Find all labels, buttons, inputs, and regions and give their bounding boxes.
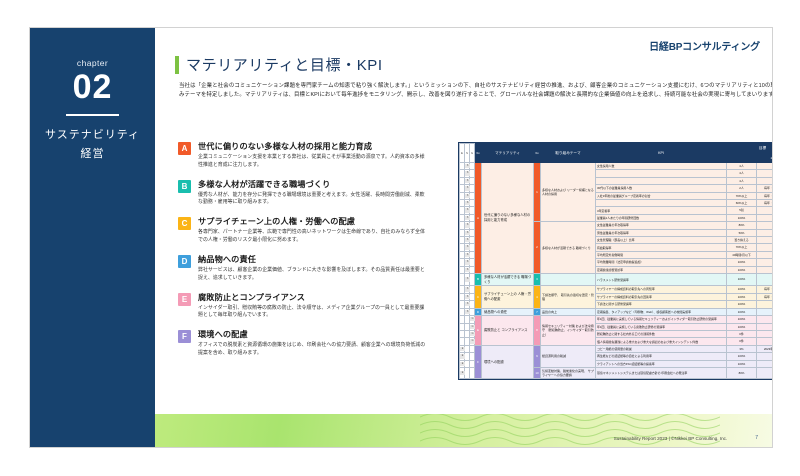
esg-cell-g	[470, 177, 475, 184]
materiality-item-d: D納品物への責任弊社サービスは、顧客企業の企業価値、ブランドに大きな影響を及ぼし…	[178, 254, 428, 282]
materiality-heading: サプライチェーン上の人権・労働への配慮	[198, 216, 428, 227]
esg-cell-g	[470, 293, 475, 300]
target-year-cell: 2023年	[757, 163, 773, 170]
target-value-cell: 80%	[727, 367, 757, 378]
col-header-no2: No	[534, 144, 541, 163]
theme-name-cell: 下請法順守、 取引先の適切な選定・管理	[541, 286, 596, 308]
target-value-cell: 置き換える	[727, 237, 757, 244]
esg-cell-g	[470, 207, 475, 214]
esg-cell-g	[470, 200, 475, 207]
esg-cell-g	[470, 360, 475, 367]
target-year-cell: 毎年（2025年まで）	[757, 192, 773, 199]
kpi-cell: 定期健康診断受診率	[596, 266, 727, 273]
materiality-badge-b: B	[178, 180, 191, 193]
materiality-badge-c: C	[178, 217, 191, 230]
kpi-cell: 下請法に関する研修受講率	[596, 301, 727, 308]
chapter-title-line2: 経営	[30, 145, 155, 164]
target-year-cell: 2024年	[757, 207, 773, 214]
table-row: SD納品物への責任7品質の向上定期編集、タイアップなど（印刷物、Web）、検収顧…	[460, 308, 773, 316]
materiality-heading: 環境への配慮	[198, 329, 428, 340]
kpi-cell: 個人情報紛失漏洩による重大および重大な訴訟のおよび重大インシデント件数	[596, 338, 727, 345]
title-accent-bar	[175, 56, 179, 74]
col-header-target-value	[727, 154, 757, 163]
table-row: SCサプライチェーン上の 人権・労働への配慮4下請法順守、 取引先の適切な選定・…	[460, 286, 773, 293]
kpi-cell: 再生紙などの認証紙等の自社による利用率	[596, 353, 727, 360]
kpi-cell: 平均残業時間（法定申請前提追加）	[596, 259, 727, 266]
materiality-badge-e: E	[178, 293, 191, 306]
esg-cell-g	[470, 185, 475, 192]
target-year-cell: 2024年	[757, 330, 773, 337]
target-year-cell: 毎年（2025年まで）	[757, 286, 773, 293]
materiality-item-a: A世代に偏りのない多様な人材の採用と能力育成企業コミュニケーション支援を本業とす…	[178, 141, 428, 169]
target-value-cell: 70%以上	[727, 192, 757, 199]
target-value-cell: 100%	[727, 301, 757, 308]
kpi-cell: 定期編集、タイアップなど（印刷物、Web）、検収顧客層への校閲実施率	[596, 308, 727, 316]
theme-no-cell: 10	[534, 367, 541, 378]
target-year-cell: 2022年	[757, 323, 773, 330]
materiality-description: 各専門家、パートナー企業等、広範で専門性の高いネットワークは生命線であり、自社の…	[198, 229, 428, 244]
kpi-cell: サプライヤーの構成資料の取引先への周知率	[596, 286, 727, 293]
kpi-table-body: SA世代に偏りのない多様な人材の採用と能力育成1多様な人材および リーダー候補と…	[460, 163, 773, 379]
target-value-cell: 100%	[727, 308, 757, 316]
target-value-cell: 50%	[727, 229, 757, 236]
target-year-cell: 2024年	[757, 170, 773, 177]
target-year-cell: 毎年	[757, 308, 773, 316]
materiality-item-c: Cサプライチェーン上の人権・労働への配慮各専門家、パートナー企業等、広範で専門性…	[178, 216, 428, 244]
theme-no-cell: 1	[534, 163, 541, 222]
esg-cell-g	[470, 237, 475, 244]
esg-cell-g	[470, 229, 475, 236]
esg-cell-g: G	[470, 330, 475, 337]
group-code-cell: F	[475, 345, 482, 379]
group-materiality-cell: 環境への配慮	[482, 345, 534, 379]
kpi-cell: 男性従業員の年次取得率	[596, 229, 727, 236]
materiality-heading: 納品物への責任	[198, 254, 428, 265]
target-year-cell: 2025年	[757, 244, 773, 251]
group-code-cell: B	[475, 274, 482, 286]
theme-name-cell: 品質の向上	[541, 308, 596, 316]
kpi-cell: 入社3年後の従業員グループ定着率の割合	[596, 192, 727, 199]
group-materiality-cell: 納品物への責任	[482, 308, 534, 316]
target-year-cell: 毎年	[757, 259, 773, 266]
table-row: SA世代に偏りのない多様な人材の採用と能力育成1多様な人材および リーダー候補と…	[460, 163, 773, 170]
col-header-kpi: KPI	[596, 144, 727, 163]
kpi-cell	[596, 170, 727, 177]
esg-cell-g	[470, 353, 475, 360]
materiality-badge-d: D	[178, 255, 191, 268]
target-value-cell: 100%	[727, 214, 757, 221]
table-row: EF環境への配慮9紙資源利用の削減コピー用紙の使用量の削減3%2023年（202…	[460, 345, 773, 352]
target-year-cell: 2025年	[757, 177, 773, 184]
esg-cell-g	[470, 222, 475, 229]
target-value-cell: 100%	[727, 274, 757, 286]
theme-no-cell: 2	[534, 222, 541, 274]
target-value-cell: 100%	[727, 353, 757, 360]
col-header-no1: No	[475, 144, 482, 163]
target-value-cell: 70%以上	[727, 244, 757, 251]
group-materiality-cell: サプライチェーン上の 人権・労働への配慮	[482, 286, 534, 308]
target-value-cell: 40時間/月以下	[727, 251, 757, 258]
theme-name-cell: 紙資源利用の削減	[541, 345, 596, 367]
group-code-cell: C	[475, 286, 482, 308]
slide-canvas: chapter 02 サステナビリティ 経営 日経BPコンサルティング マテリア…	[30, 28, 772, 447]
kpi-cell: 有給取得率	[596, 244, 727, 251]
target-value-cell: 60%以上	[727, 200, 757, 207]
esg-cell-g: G	[470, 323, 475, 330]
target-value-cell: 0件	[727, 338, 757, 345]
kpi-cell: 従業員1人あたりの年間研修回数	[596, 214, 727, 221]
materiality-heading: 世代に偏りのない多様な人材の採用と能力育成	[198, 141, 428, 152]
target-year-cell: 達成年	[757, 214, 773, 221]
target-year-cell: 2023年（2025年比）	[757, 345, 773, 352]
chapter-title-line1: サステナビリティ	[30, 126, 155, 145]
kpi-cell	[596, 200, 727, 207]
kpi-table-head: E S G No マテリアリティ No 取り組みテーマ KPI 目標 ※目標達成…	[460, 144, 773, 163]
materiality-description: インサイダー取引、贈収賄等の腐敗の防止、法令順守は、メディア企業グループの一員と…	[198, 305, 428, 320]
col-header-target-year: ※目標達成年	[757, 154, 773, 163]
page-title-group: マテリアリティと目標・KPI	[175, 54, 383, 75]
esg-cell-g	[470, 251, 475, 258]
materiality-list: A世代に偏りのない多様な人材の採用と能力育成企業コミュニケーション支援を本業とす…	[178, 141, 428, 367]
theme-no-cell: 9	[534, 345, 541, 367]
target-value-cell: 100%	[727, 360, 757, 367]
kpi-cell: コピー用紙の使用量の削減	[596, 345, 727, 352]
theme-name-cell: 多様な人材が活躍できる 職場づくり	[541, 222, 596, 274]
kpi-cell: 3年定着率	[596, 207, 727, 214]
theme-no-cell: 3	[534, 274, 541, 286]
target-value-cell: 5割	[727, 207, 757, 214]
target-year-cell: 毎年	[757, 360, 773, 367]
target-year-cell: 2027年	[757, 229, 773, 236]
target-year-cell: 毎年	[757, 353, 773, 360]
target-year-cell: 毎年度	[757, 266, 773, 273]
target-year-cell: 毎年	[757, 301, 773, 308]
table-row: GE腐敗防止と コンプライアンス8情報セキュリティー対策 および法令順守 （贈収…	[460, 316, 773, 323]
target-value-cell: 0件	[727, 330, 757, 337]
materiality-item-b: B多様な人材が活躍できる職場づくり優秀な人材が、能力を存分に発揮できる職場環境は…	[178, 179, 428, 207]
theme-no-cell: 8	[534, 316, 541, 346]
esg-cell-g	[470, 301, 475, 308]
page-title: マテリアリティと目標・KPI	[186, 54, 383, 75]
esg-cell-g	[470, 259, 475, 266]
target-value-cell: 100%	[727, 323, 757, 330]
kpi-cell: 女性管理職（部長以上）比率	[596, 237, 727, 244]
table-row: SB多様な人材が活躍できる 職場づくり3ハラスメント研修受講率100%毎年	[460, 274, 773, 286]
theme-name-cell	[541, 274, 596, 286]
target-year-cell: 毎年	[757, 274, 773, 286]
target-value-cell: 80%	[727, 222, 757, 229]
materiality-heading: 腐敗防止とコンプライアンス	[198, 292, 428, 303]
footer-text: Sustainability Report 2023 | ©Nikkei BP …	[614, 436, 728, 441]
kpi-cell: クライアントへの当方FSC認証紙等の提案率	[596, 360, 727, 367]
footer-page-number: 7	[755, 435, 758, 441]
target-value-cell: 4人	[727, 163, 757, 170]
target-value-cell: 2人	[727, 185, 757, 192]
footer: Sustainability Report 2023 | ©Nikkei BP …	[155, 435, 772, 441]
group-materiality-cell: 多様な人材が活躍できる 職場づくり	[482, 274, 534, 286]
esg-cell-g: G	[470, 338, 475, 345]
group-code-cell: D	[475, 308, 482, 316]
target-value-cell: 100%	[727, 316, 757, 323]
kpi-cell: 年1回、従業員に実施している情報セキュリティーおよびインサイダー取引防止研修の受…	[596, 316, 727, 323]
kpi-cell: 贈収賄防止に関する社内外窓口での通報件数	[596, 330, 727, 337]
target-year-cell: 毎年（2025年まで）	[757, 185, 773, 192]
kpi-cell: 平均所定外労働時間	[596, 251, 727, 258]
chapter-label: chapter	[30, 58, 155, 68]
materiality-item-f: F環境への配慮オフィスでの脱炭素と資源循環の施策をはじめ、印刷会社への協力要請、…	[178, 329, 428, 357]
chapter-panel: chapter 02 サステナビリティ 経営	[30, 28, 155, 447]
col-header-target: 目標	[727, 144, 773, 154]
esg-cell-g	[470, 214, 475, 221]
kpi-cell: 女性従業員の年次取得率	[596, 222, 727, 229]
esg-cell-g	[470, 244, 475, 251]
target-year-cell: 2022年	[757, 316, 773, 323]
col-header-theme: 取り組みテーマ	[541, 144, 596, 163]
target-value-cell: 100%	[727, 286, 757, 293]
target-year-cell: 毎年	[757, 251, 773, 258]
target-year-cell: 毎年（2025年まで）	[757, 200, 773, 207]
group-code-cell: E	[475, 316, 482, 346]
materiality-description: 優秀な人材が、能力を存分に発揮できる職場環境は重要と考えます。女性活躍、長時間労…	[198, 192, 428, 207]
materiality-description: 企業コミュニケーション支援を本業とする弊社は、従業員こそが事業活動の源泉です。人…	[198, 154, 428, 169]
kpi-cell: 30代以下の従業員採用人数	[596, 185, 727, 192]
target-value-cell: 4人	[727, 170, 757, 177]
target-year-cell: 毎年	[757, 237, 773, 244]
target-value-cell: 100%	[727, 266, 757, 273]
theme-name-cell: 気候変動対策、脱炭素化の実現、 サプライヤーへの協力要請	[541, 367, 596, 378]
col-header-materiality: マテリアリティ	[482, 144, 534, 163]
group-materiality-cell: 世代に偏りのない多様な人材の採用と能力育成	[482, 163, 534, 274]
kpi-table: E S G No マテリアリティ No 取り組みテーマ KPI 目標 ※目標達成…	[459, 143, 772, 379]
target-value-cell: 100%	[727, 293, 757, 300]
theme-no-cell: 7	[534, 308, 541, 316]
target-value-cell: 100%	[727, 259, 757, 266]
theme-name-cell: 多様な人材および リーダー候補となる人材の採用	[541, 163, 596, 222]
target-year-cell: 2022年	[757, 338, 773, 345]
materiality-description: オフィスでの脱炭素と資源循環の施策をはじめ、印刷会社への協力要請、顧客企業への環…	[198, 342, 428, 357]
materiality-heading: 多様な人材が活躍できる職場づくり	[198, 179, 428, 190]
chapter-panel-wedge	[30, 405, 155, 447]
materiality-badge-f: F	[178, 330, 191, 343]
esg-cell-g	[470, 170, 475, 177]
materiality-item-e: E腐敗防止とコンプライアンスインサイダー取引、贈収賄等の腐敗の防止、法令順守は、…	[178, 292, 428, 320]
target-value-cell: 3%	[727, 345, 757, 352]
materiality-badge-a: A	[178, 142, 191, 155]
kpi-cell: 年1回、従業員に実施している腐敗防止研修の受講率	[596, 323, 727, 330]
kpi-cell: 女性採用人数	[596, 163, 727, 170]
lead-paragraph: 当社は「企業と社会のコミュニケーション課題を専門家チームの知恵で粘り強く解決しま…	[179, 82, 772, 100]
kpi-cell: ハラスメント研修受講率	[596, 274, 727, 286]
chapter-title: サステナビリティ 経営	[30, 126, 155, 164]
chapter-number: 02	[30, 68, 155, 107]
theme-name-cell: 情報セキュリティー対策 および法令順守 （贈収賄防止、インサイダー取引防止）	[541, 316, 596, 346]
target-year-cell: 毎年（2025年まで）	[757, 293, 773, 300]
group-code-cell: A	[475, 163, 482, 274]
kpi-table-container: E S G No マテリアリティ No 取り組みテーマ KPI 目標 ※目標達成…	[458, 142, 772, 380]
chapter-divider	[66, 114, 119, 116]
theme-no-cell: 4	[534, 286, 541, 308]
esg-cell-g	[470, 192, 475, 199]
materiality-description: 弊社サービスは、顧客企業の企業価値、ブランドに大きな影響を及ぼします。その品質責…	[198, 267, 428, 282]
main-content: マテリアリティと目標・KPI 当社は「企業と社会のコミュニケーション課題を専門家…	[170, 28, 772, 447]
kpi-cell: 環境マネジメントシステムまたは環境配慮方針の 印刷会社への発注率	[596, 367, 727, 378]
group-materiality-cell: 腐敗防止と コンプライアンス	[482, 316, 534, 346]
target-year-cell: 達成年	[757, 222, 773, 229]
target-value-cell: 4人	[727, 177, 757, 184]
target-year-cell: 2025年	[757, 367, 773, 378]
esg-cell-g	[470, 266, 475, 273]
kpi-cell	[596, 177, 727, 184]
kpi-cell: サプライヤーの構成資料の取引先の回答率	[596, 293, 727, 300]
esg-cell-g	[470, 367, 475, 378]
